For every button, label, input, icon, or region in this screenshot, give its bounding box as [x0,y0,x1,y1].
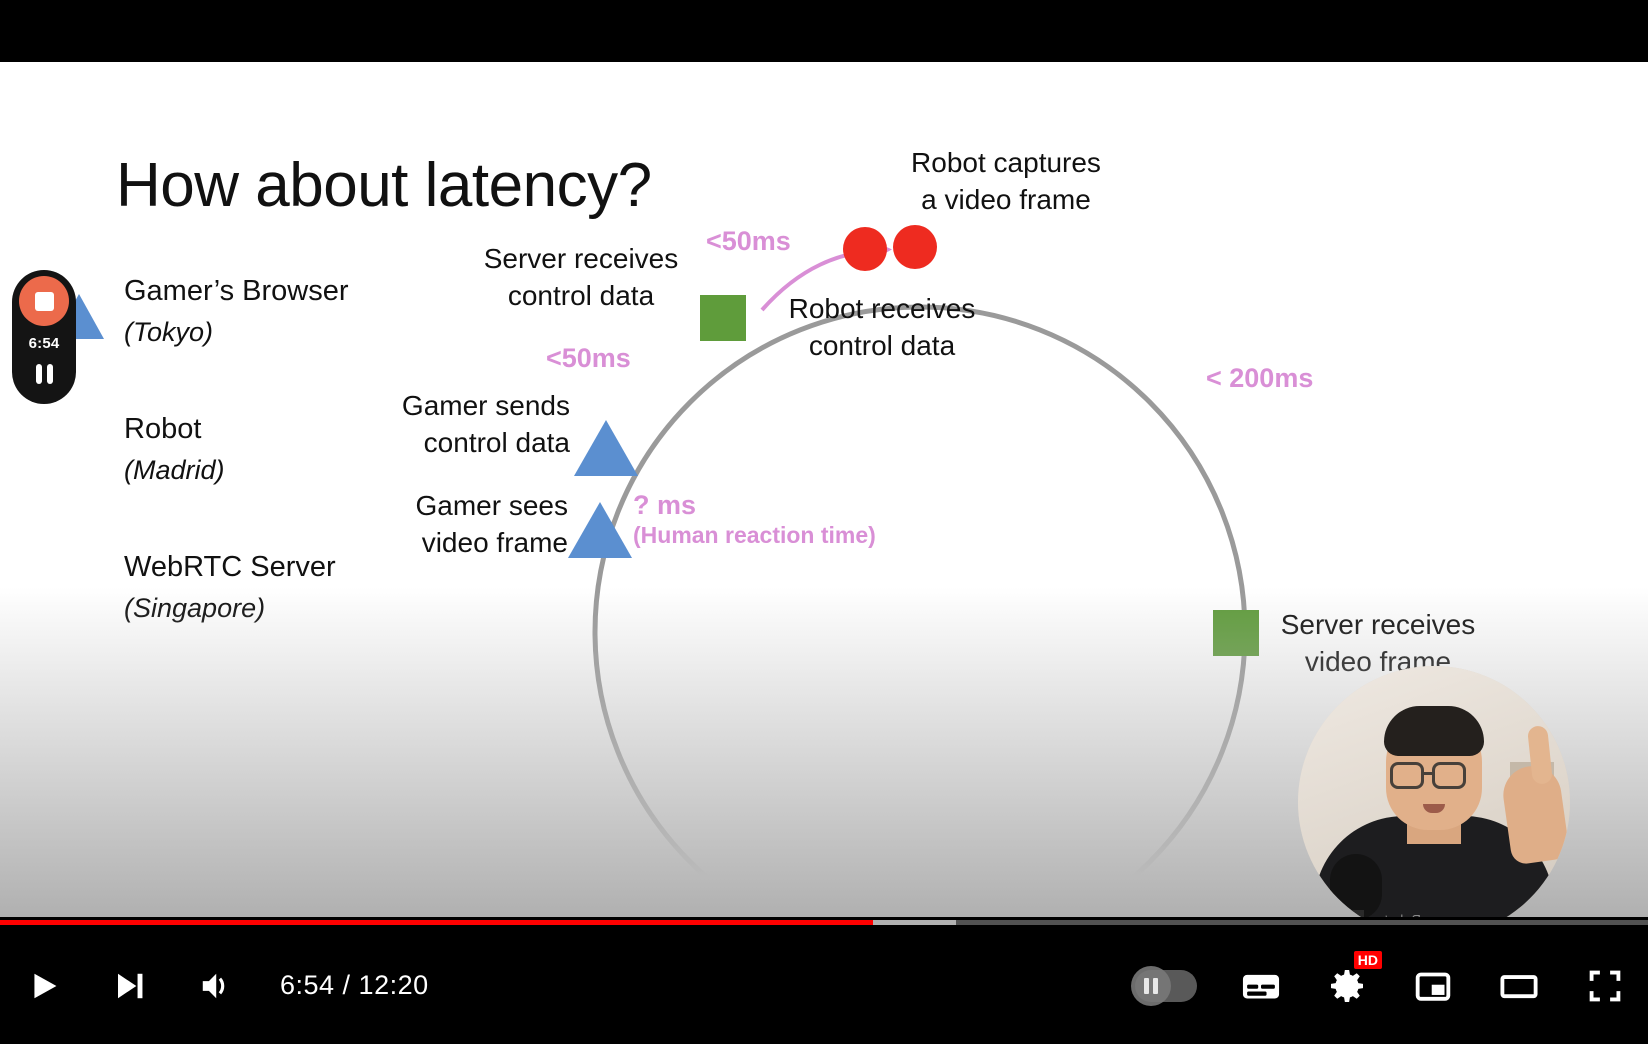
theater-icon [1496,963,1542,1009]
stop-recording-button[interactable] [19,276,69,326]
pause-icon [36,364,42,384]
node-gamer-sends-control-data [574,420,638,476]
video-surface[interactable]: How about latency? Gamer’s Browser (Toky… [0,62,1648,917]
screen-recorder-widget[interactable]: 6:54 [12,270,76,404]
latency-robot-to-server: < 200ms [1206,363,1313,394]
recording-time: 6:54 [29,335,60,352]
subtitles-icon [1236,961,1286,1011]
play-button[interactable] [0,927,86,1044]
latency-server-to-robot: <50ms [706,226,791,257]
latency-human-reaction: ? ms [633,490,696,521]
volume-icon [193,964,237,1008]
node-robot-receives-control-data [843,227,887,271]
label-gamer-sees-video-frame: Gamer sees video frame [348,487,568,561]
quality-badge: HD [1354,951,1382,969]
settings-button[interactable]: HD [1304,927,1390,1044]
node-server-receives-video-frame [1213,610,1259,656]
miniplayer-icon [1410,963,1456,1009]
presenter-webcam-overlay: Roboto [1298,666,1570,917]
player-control-bar: 6:54 / 12:20 HD [0,917,1648,1044]
latency-gamer-to-server: <50ms [546,343,631,374]
pause-recording-button[interactable] [36,364,53,384]
miniplayer-button[interactable] [1390,927,1476,1044]
youtube-fullscreen-player: How about latency? Gamer’s Browser (Toky… [0,0,1648,1044]
node-server-receives-control-data [700,295,746,341]
next-icon [107,964,151,1008]
progress-played [0,920,873,925]
node-robot-captures-video-frame [893,225,937,269]
fullscreen-button[interactable] [1562,927,1648,1044]
latency-server-to-gamer: < 300ms [695,887,802,917]
label-server-receives-control-data: Server receives control data [456,240,706,314]
stop-icon [35,292,54,311]
time-display: 6:54 / 12:20 [280,970,429,1001]
label-robot-receives-control-data: Robot receives control data [757,290,1007,364]
progress-bar[interactable] [0,917,1648,927]
subtitles-button[interactable] [1218,927,1304,1044]
node-gamer-sees-video-frame [568,502,632,558]
label-gamer-sends-control-data: Gamer sends control data [350,387,570,461]
play-icon [21,964,65,1008]
control-buttons-row: 6:54 / 12:20 HD [0,927,1648,1044]
autoplay-toggle[interactable] [1114,970,1218,1002]
mute-button[interactable] [172,927,258,1044]
cycle-circle [595,307,1245,917]
fullscreen-icon [1582,963,1628,1009]
theater-button[interactable] [1476,927,1562,1044]
label-robot-captures-video-frame: Robot captures a video frame [876,144,1136,218]
next-button[interactable] [86,927,172,1044]
latency-human-reaction-sub: (Human reaction time) [633,522,876,549]
pause-icon [1131,966,1171,1006]
